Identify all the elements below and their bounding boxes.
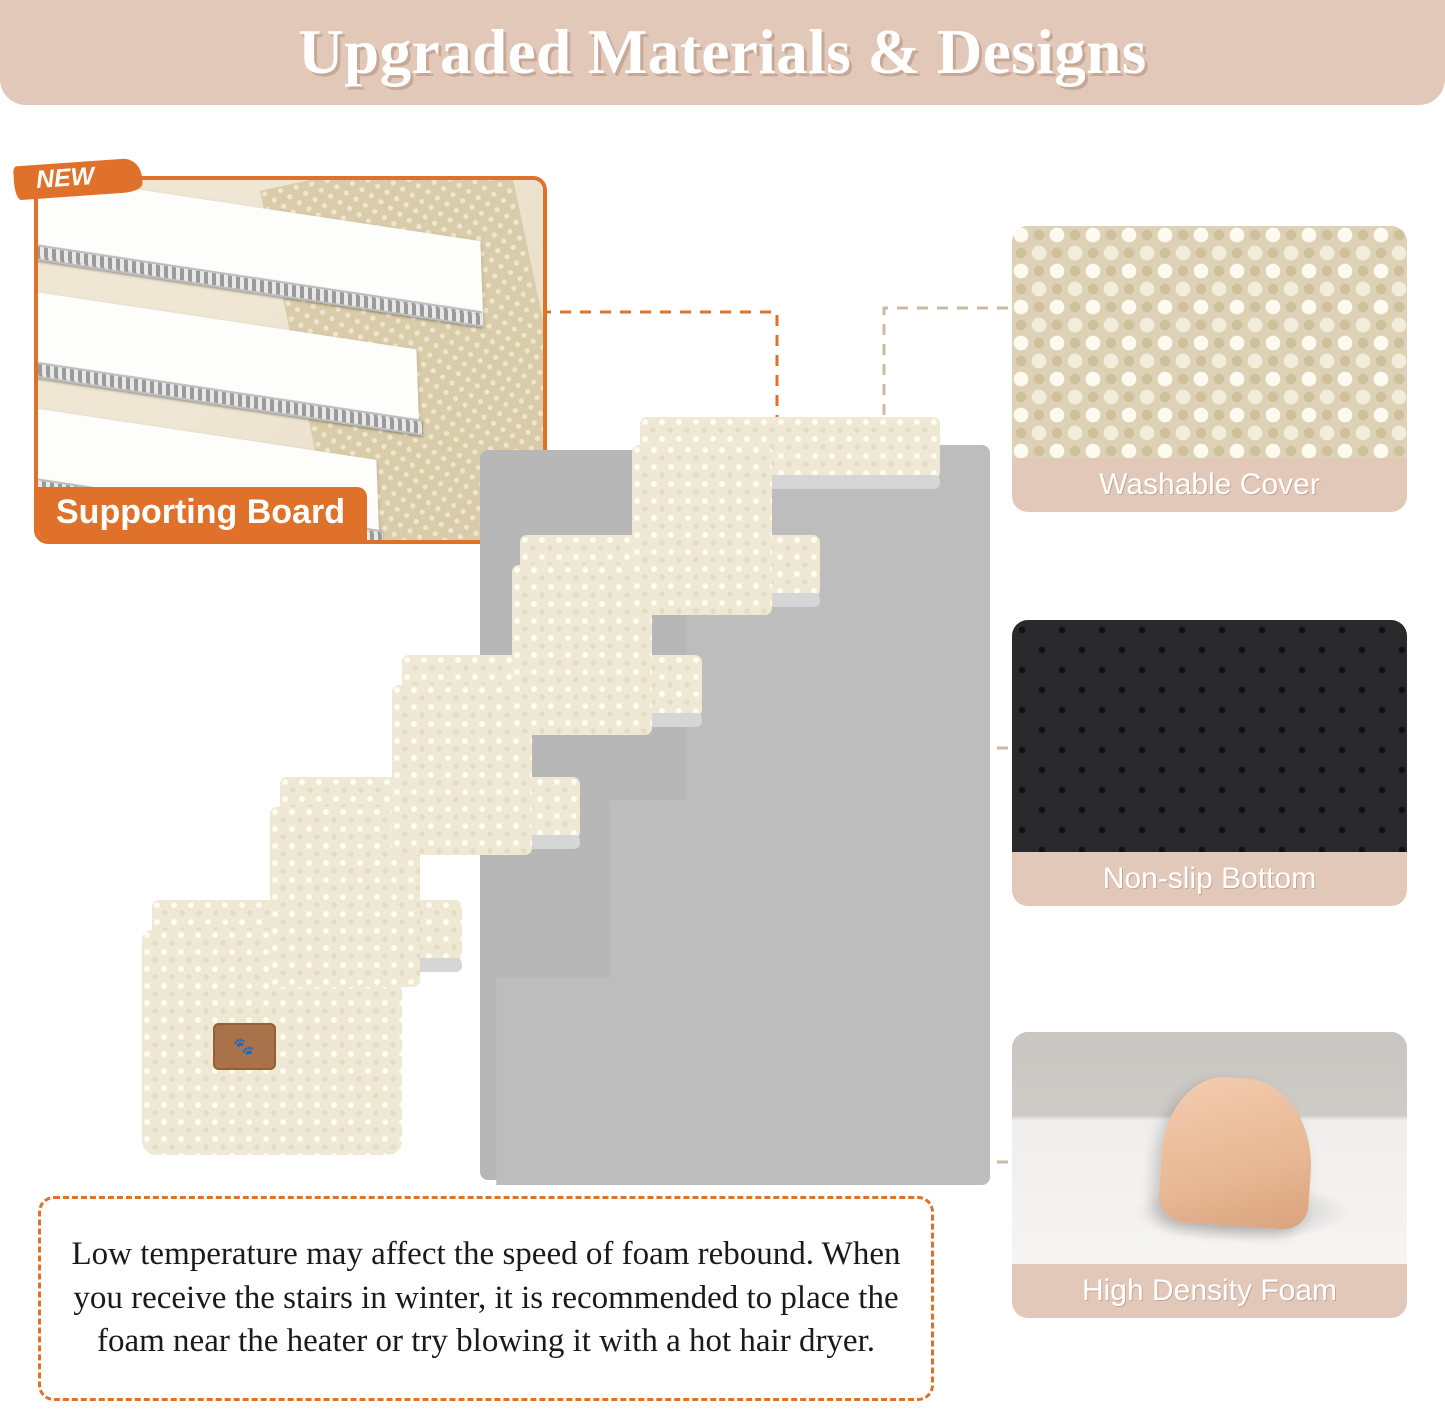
winter-note-text: Low temperature may affect the speed of …: [67, 1233, 905, 1365]
foot-icon: [1157, 1073, 1317, 1231]
feature-caption: Non-slip Bottom: [1012, 852, 1407, 906]
new-badge-label: NEW: [35, 162, 95, 195]
washable-cover-photo: [1012, 226, 1407, 458]
step-front-5: [632, 445, 772, 615]
high-density-foam-photo: [1012, 1032, 1407, 1264]
feature-card-high-density-foam: High Density Foam: [1012, 1032, 1407, 1318]
paw-print-icon: 🐾: [231, 1037, 257, 1057]
feature-card-non-slip-bottom: Non-slip Bottom: [1012, 620, 1407, 906]
pet-stairs-illustration: [120, 395, 1000, 1205]
winter-note-box: Low temperature may affect the speed of …: [38, 1196, 934, 1401]
feature-caption: Washable Cover: [1012, 458, 1407, 512]
step-front-3: [392, 685, 532, 855]
step-front-4: [512, 565, 652, 735]
feature-card-washable-cover: Washable Cover: [1012, 226, 1407, 512]
header-banner: Upgraded Materials & Designs: [0, 0, 1445, 105]
page-title: Upgraded Materials & Designs: [298, 16, 1147, 89]
new-badge: NEW: [14, 158, 144, 202]
brand-tag: 🐾: [213, 1023, 276, 1070]
feature-caption: High Density Foam: [1012, 1264, 1407, 1318]
non-slip-bottom-photo: [1012, 620, 1407, 852]
